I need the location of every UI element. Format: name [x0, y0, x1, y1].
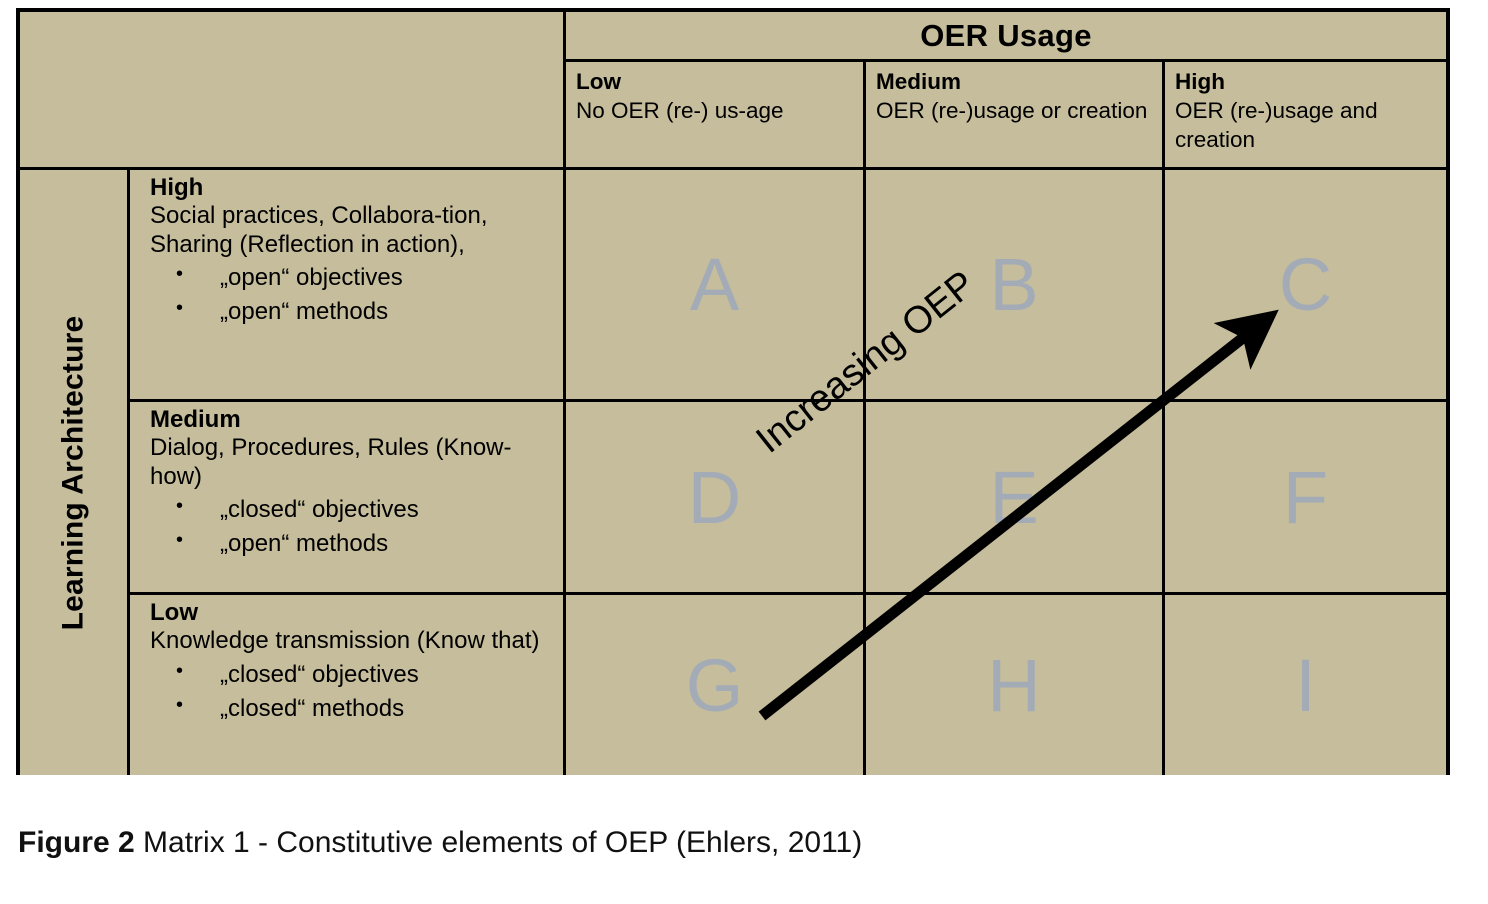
row-header-low-description: Knowledge transmission (Know that) — [150, 627, 558, 655]
row-axis-title: Learning Architecture — [20, 170, 127, 775]
grid-line-horizontal — [20, 167, 1446, 170]
figure-caption: Figure 2 Matrix 1 - Constitutive element… — [18, 826, 862, 860]
row-header-medium: Medium Dialog, Procedures, Rules (Know-h… — [130, 402, 566, 592]
figure-caption-text: Matrix 1 - Constitutive elements of OEP … — [135, 826, 863, 859]
column-header-low: Low No OER (re-) us-age — [566, 62, 863, 170]
row-header-high: High Social practices, Collabora-tion, S… — [130, 170, 566, 399]
list-item: „closed“ objectives — [220, 493, 558, 527]
row-header-high-level: High — [150, 174, 558, 202]
grid-line-horizontal — [127, 592, 1446, 595]
column-header-low-level: Low — [576, 68, 853, 97]
matrix-cell-F: F — [1165, 402, 1446, 592]
column-header-high-description: OER (re-)usage and creation — [1175, 97, 1436, 155]
matrix-cell-E: E — [866, 402, 1162, 592]
column-axis-title: OER Usage — [566, 12, 1446, 59]
grid-line-vertical — [563, 12, 566, 775]
grid-line-horizontal — [566, 59, 1446, 62]
grid-line-vertical — [127, 167, 130, 775]
matrix-cell-B: B — [866, 170, 1162, 399]
row-header-low-bullets: „closed“ objectives „closed“ methods — [150, 658, 558, 726]
row-header-medium-description: Dialog, Procedures, Rules (Know-how) — [150, 434, 558, 491]
list-item: „closed“ objectives — [220, 658, 558, 692]
matrix-cell-C: C — [1165, 170, 1446, 399]
row-header-medium-level: Medium — [150, 406, 558, 434]
column-header-high: High OER (re-)usage and creation — [1165, 62, 1446, 170]
matrix-cell-H: H — [866, 595, 1162, 775]
grid-line-vertical — [1162, 59, 1165, 775]
row-header-medium-bullets: „closed“ objectives „open“ methods — [150, 493, 558, 561]
list-item: „open“ objectives — [220, 261, 558, 295]
grid-line-vertical — [863, 59, 866, 775]
matrix-cell-G: G — [566, 595, 863, 775]
column-header-medium-description: OER (re-)usage or creation — [876, 97, 1152, 126]
matrix-cell-A: A — [566, 170, 863, 399]
matrix-cell-I: I — [1165, 595, 1446, 775]
column-header-high-level: High — [1175, 68, 1436, 97]
matrix-grid: OER Usage Low No OER (re-) us-age Medium… — [20, 12, 1446, 771]
list-item: „open“ methods — [220, 295, 558, 329]
list-item: „open“ methods — [220, 527, 558, 561]
list-item: „closed“ methods — [220, 692, 558, 726]
figure-number: Figure 2 — [18, 826, 135, 859]
row-axis-title-text: Learning Architecture — [57, 315, 91, 630]
row-header-low: Low Knowledge transmission (Know that) „… — [130, 595, 566, 775]
column-header-medium: Medium OER (re-)usage or creation — [866, 62, 1162, 170]
column-header-medium-level: Medium — [876, 68, 1152, 97]
oep-matrix-table: OER Usage Low No OER (re-) us-age Medium… — [16, 8, 1450, 775]
row-header-low-level: Low — [150, 599, 558, 627]
row-header-high-bullets: „open“ objectives „open“ methods — [150, 261, 558, 329]
row-header-high-description: Social practices, Collabora-tion, Sharin… — [150, 202, 558, 259]
column-header-low-description: No OER (re-) us-age — [576, 97, 853, 126]
matrix-cell-D: D — [566, 402, 863, 592]
